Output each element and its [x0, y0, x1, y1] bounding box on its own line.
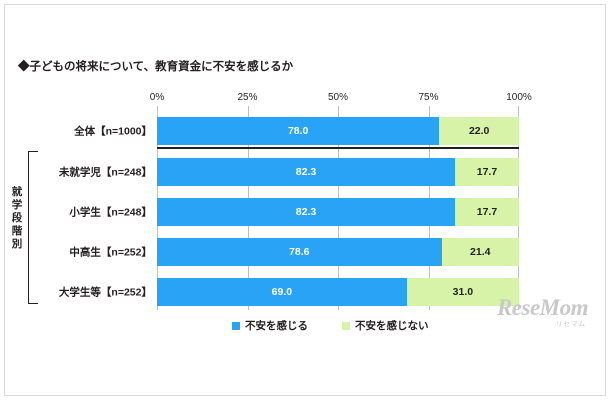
- bar-value-label: 17.7: [477, 166, 497, 178]
- legend-item-anxious: 不安を感じる: [232, 318, 308, 333]
- bar-segment-anxious: 82.3: [157, 158, 455, 186]
- table-row: 69.031.0: [157, 278, 519, 306]
- bar-value-label: 69.0: [272, 286, 292, 298]
- bar-value-label: 31.0: [453, 286, 473, 298]
- x-axis-tick-label: 50%: [328, 92, 348, 103]
- legend-label-not-anxious: 不安を感じない: [355, 318, 429, 333]
- legend-swatch-blue-icon: [232, 322, 240, 330]
- bar-value-label: 22.0: [469, 125, 489, 137]
- category-label: 未就学児【n=248】: [59, 165, 152, 180]
- row-label-container: 全体【n=1000】: [20, 117, 152, 145]
- bar-value-label: 82.3: [296, 166, 316, 178]
- legend-swatch-green-icon: [342, 322, 350, 330]
- bar-value-label: 78.0: [288, 125, 308, 137]
- legend-label-anxious: 不安を感じる: [245, 318, 308, 333]
- category-label: 大学生等【n=252】: [59, 285, 152, 300]
- watermark-text: ReseMom: [497, 296, 588, 320]
- category-label: 小学生【n=248】: [69, 205, 152, 220]
- bar-segment-not-anxious: 21.4: [442, 238, 519, 266]
- row-label-container: 大学生等【n=252】: [20, 278, 152, 306]
- total-separator: [157, 147, 519, 149]
- legend-item-not-anxious: 不安を感じない: [342, 318, 429, 333]
- table-row: 82.317.7: [157, 158, 519, 186]
- group-bracket-label: 就学段階別: [10, 186, 24, 251]
- bar-value-label: 17.7: [477, 206, 497, 218]
- table-row: 78.022.0: [157, 117, 519, 145]
- bar-value-label: 78.6: [289, 246, 309, 258]
- bar-segment-not-anxious: 22.0: [439, 117, 519, 145]
- row-label-container: 中高生【n=252】: [20, 238, 152, 266]
- table-row: 82.317.7: [157, 198, 519, 226]
- chart-canvas: ◆子どもの将来について、教育資金に不安を感じるか 0%25%50%75%100%…: [0, 0, 610, 400]
- bar-segment-anxious: 78.6: [157, 238, 442, 266]
- x-axis-tick-label: 75%: [418, 92, 438, 103]
- x-axis-tick-label: 0%: [150, 92, 164, 103]
- row-label-container: 未就学児【n=248】: [20, 158, 152, 186]
- bar-segment-anxious: 69.0: [157, 278, 407, 306]
- bar-segment-anxious: 78.0: [157, 117, 439, 145]
- x-axis-tick-label: 25%: [237, 92, 257, 103]
- chart-title: ◆子どもの将来について、教育資金に不安を感じるか: [18, 58, 293, 74]
- x-axis-tick-label: 100%: [506, 92, 532, 103]
- category-label: 全体【n=1000】: [74, 124, 152, 139]
- bar-segment-not-anxious: 17.7: [455, 158, 519, 186]
- table-row: 78.621.4: [157, 238, 519, 266]
- watermark: ReseMom リセマム: [497, 296, 588, 328]
- chart-legend: 不安を感じる 不安を感じない: [232, 318, 429, 333]
- bar-value-label: 21.4: [470, 246, 490, 258]
- bar-value-label: 82.3: [296, 206, 316, 218]
- group-bracket: [28, 151, 38, 304]
- category-label: 中高生【n=252】: [69, 245, 152, 260]
- bar-segment-anxious: 82.3: [157, 198, 455, 226]
- bar-segment-not-anxious: 17.7: [455, 198, 519, 226]
- row-label-container: 小学生【n=248】: [20, 198, 152, 226]
